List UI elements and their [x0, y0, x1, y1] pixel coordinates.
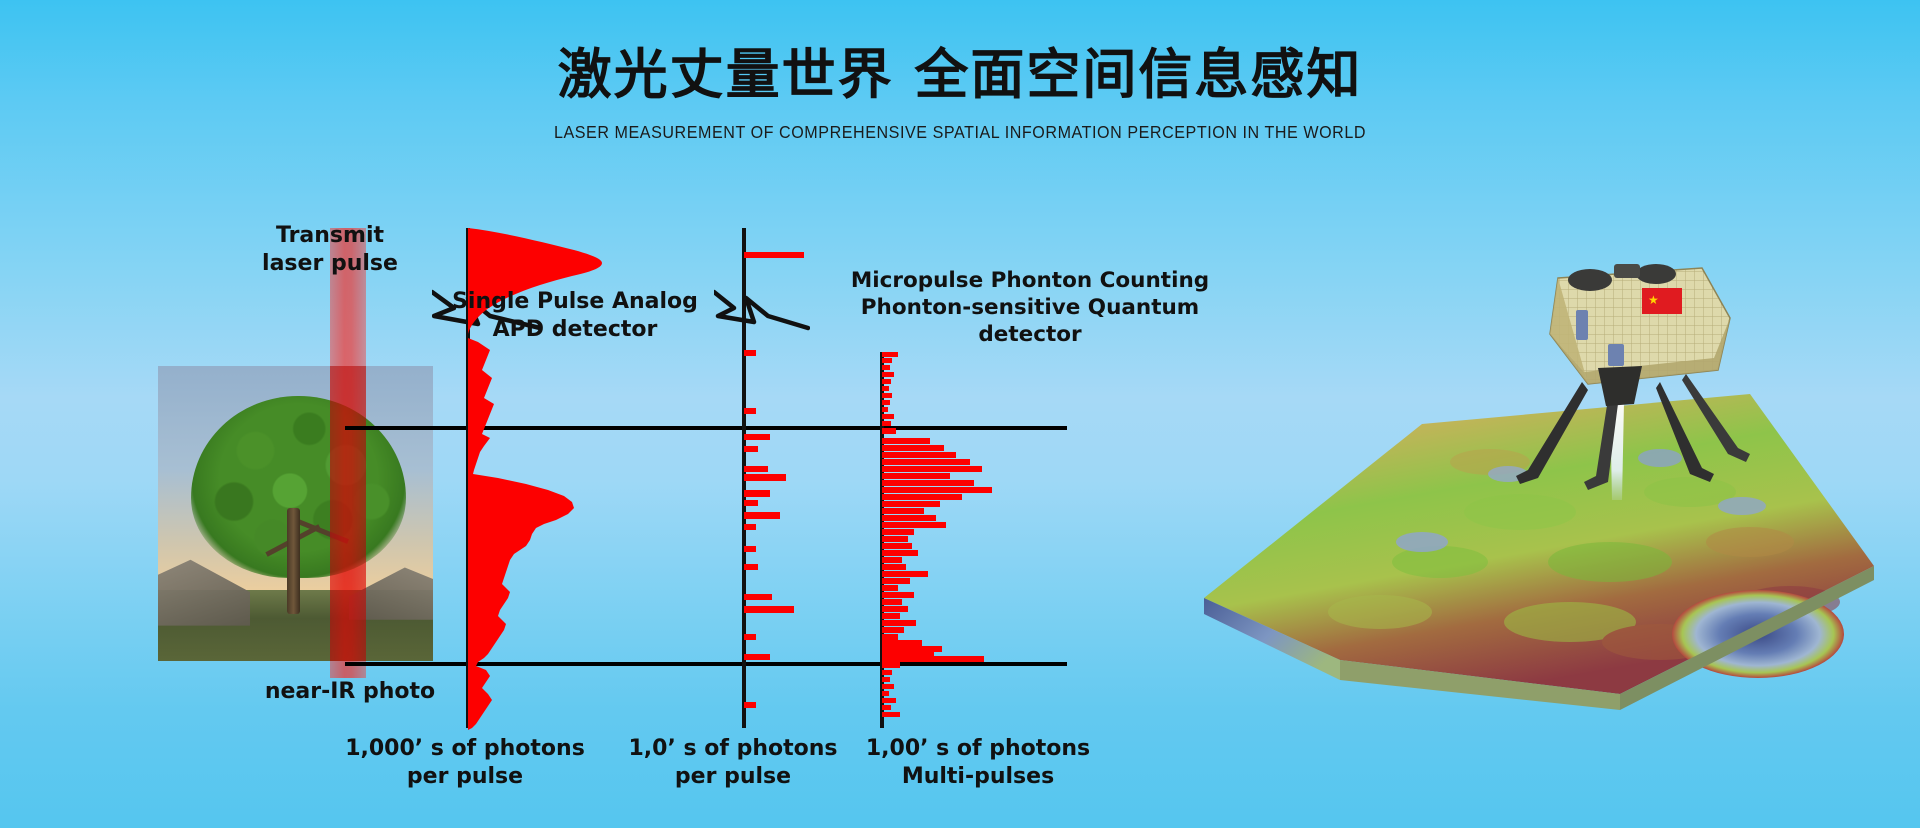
near-ir-photo-caption: near-IR photo [215, 678, 485, 706]
small-crater [1718, 497, 1766, 515]
single-pulse-analog-label: Single Pulse Analog APD detector [430, 288, 720, 343]
near-ir-photo [158, 366, 433, 661]
single-pulse-analog-waveform [468, 338, 648, 730]
caption-photons-per-pulse-10s: 1,0’ s of photons per pulse [608, 735, 858, 790]
photon-counting-histogram-waveform [882, 352, 1082, 724]
terrain-and-lander-illustration: ★ [1190, 262, 1890, 722]
transmit-pulse-label: Transmit laser pulse [230, 222, 430, 277]
small-crater [1638, 449, 1682, 467]
laser-beam-photo-tint [330, 366, 366, 661]
caption-photons-multi-pulses-100s: 1,00’ s of photons Multi-pulses [838, 735, 1118, 790]
lidar-waveform-diagram: Transmit laser pulse Single Pulse Analog… [0, 0, 1120, 828]
caption-photons-per-pulse-1000s: 1,000’ s of photons per pulse [330, 735, 600, 790]
photo-tree-trunk [287, 508, 300, 614]
infographic-stage: 激光丈量世界 全面空间信息感知 LASER MEASUREMENT OF COM… [0, 0, 1920, 828]
small-crater [1396, 532, 1448, 552]
micropulse-photon-counting-label: Micropulse Phonton Counting Phonton-sens… [820, 268, 1240, 349]
svg-text:★: ★ [1648, 293, 1659, 307]
